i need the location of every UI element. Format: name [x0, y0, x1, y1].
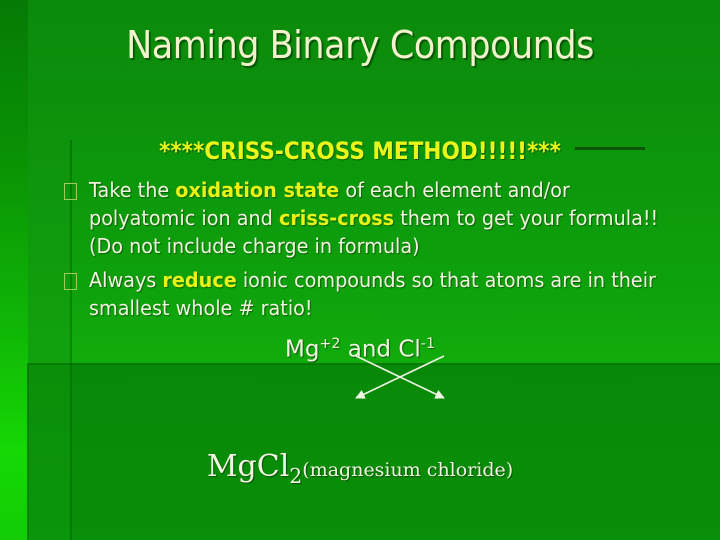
- bullet-highlight-criss-cross: criss-cross: [279, 206, 394, 230]
- slide-canvas: Naming Binary Compounds ****CRISS-CROSS …: [0, 0, 720, 540]
- list-item: Take the oxidation state of each element…: [64, 176, 704, 260]
- ion-two-charge: -1: [421, 336, 435, 352]
- result-compound-name: (magnesium chloride): [302, 459, 513, 481]
- page-title: Naming Binary Compounds: [29, 22, 691, 68]
- list-item: Always reduce ionic compounds so that at…: [64, 266, 704, 322]
- bullet-highlight-oxidation-state: oxidation state: [175, 178, 339, 202]
- bullet-text-part: Take the: [89, 178, 175, 202]
- bullet-box-icon: [64, 273, 77, 290]
- bullet-highlight-reduce: reduce: [162, 268, 236, 292]
- bullet-text-part: Always: [89, 268, 162, 292]
- ion-one-symbol: Mg: [285, 337, 319, 363]
- bullet-list: Take the oxidation state of each element…: [64, 176, 704, 328]
- result-formula: MgCl2: [207, 449, 302, 484]
- bullet-text: Always reduce ionic compounds so that at…: [89, 266, 679, 322]
- result-formula-prefix: MgCl: [207, 449, 289, 484]
- bullet-box-icon: [64, 183, 77, 200]
- example-result: MgCl2(magnesium chloride): [0, 448, 720, 495]
- ion-one-charge: +2: [319, 336, 340, 352]
- result-formula-subscript: 2: [289, 464, 302, 488]
- bullet-text: Take the oxidation state of each element…: [89, 176, 679, 260]
- slide-subtitle: ****CRISS-CROSS METHOD!!!!!***: [126, 136, 594, 166]
- criss-cross-arrows: [340, 352, 460, 406]
